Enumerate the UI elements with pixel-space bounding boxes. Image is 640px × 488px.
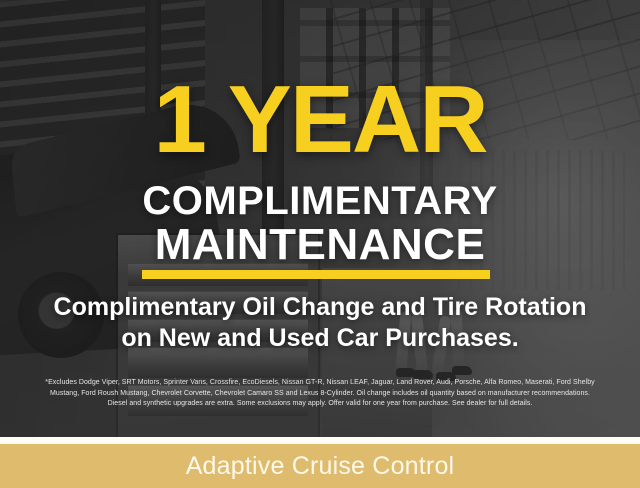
yellow-divider-rule: [142, 270, 490, 279]
disclaimer-line-3: Diesel and synthetic upgrades are extra.…: [14, 399, 626, 410]
garage-background-photo: 1 YEAR COMPLIMENTARY MAINTENANCE Complim…: [0, 0, 640, 437]
promo-content: 1 YEAR COMPLIMENTARY MAINTENANCE Complim…: [0, 0, 640, 437]
offer-description-line-1: Complimentary Oil Change and Tire Rotati…: [0, 292, 640, 323]
disclaimer-text: *Excludes Dodge Viper, SRT Motors, Sprin…: [14, 378, 626, 410]
caption-separator: [0, 437, 640, 444]
disclaimer-line-2: Mustang, Ford Roush Mustang, Chevrolet C…: [14, 389, 626, 400]
headline-year: 1 YEAR: [0, 72, 640, 168]
caption-bar[interactable]: Adaptive Cruise Control: [0, 444, 640, 488]
headline-complimentary: COMPLIMENTARY: [0, 180, 640, 222]
promo-banner-card: 1 YEAR COMPLIMENTARY MAINTENANCE Complim…: [0, 0, 640, 488]
caption-label: Adaptive Cruise Control: [186, 452, 455, 480]
disclaimer-line-1: *Excludes Dodge Viper, SRT Motors, Sprin…: [14, 378, 626, 389]
offer-description-line-2: on New and Used Car Purchases.: [0, 323, 640, 354]
headline-maintenance: MAINTENANCE: [0, 222, 640, 268]
